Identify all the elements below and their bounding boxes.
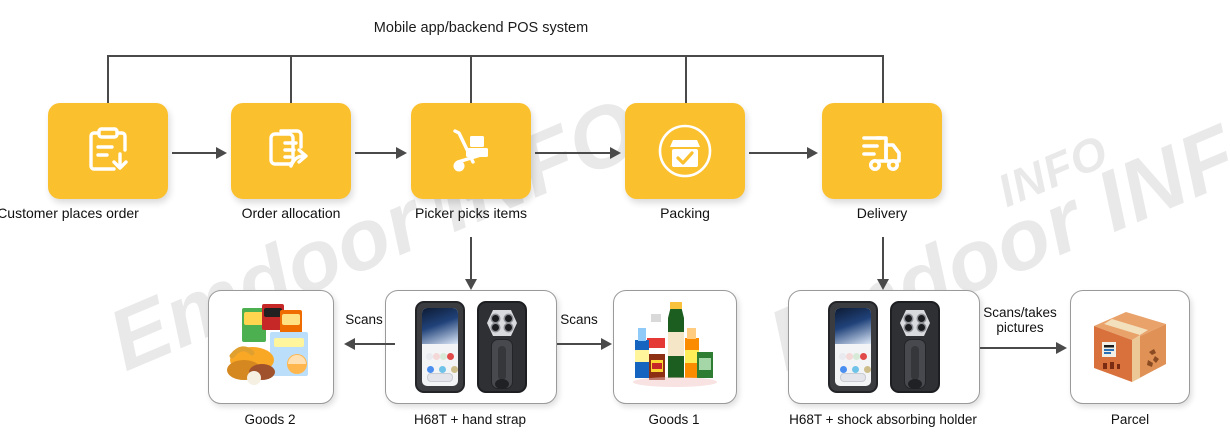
edge-label-scans-goods-1: Scans xyxy=(539,312,619,327)
step-tile-delivery[interactable] xyxy=(822,103,942,199)
node-card-parcel[interactable] xyxy=(1070,290,1190,404)
snack-packages-photo xyxy=(218,298,324,397)
hand-truck-icon xyxy=(442,122,500,180)
node-label-h68t-hand-strap: H68T + hand strap xyxy=(375,412,565,427)
step-label-packing: Packing xyxy=(585,205,785,221)
bus-drop-4 xyxy=(685,55,687,104)
rugged-phone-shock-holder-photo xyxy=(828,301,940,393)
beverage-bottles-photo xyxy=(623,298,727,397)
node-label-goods-2: Goods 2 xyxy=(190,412,350,427)
node-label-parcel: Parcel xyxy=(1060,412,1200,427)
step-tile-customer-places-order[interactable] xyxy=(48,103,168,199)
rugged-phone-hand-strap-photo xyxy=(415,301,527,393)
clipboard-download-icon xyxy=(80,123,136,179)
step-tile-picker-picks-items[interactable] xyxy=(411,103,531,199)
node-card-goods-2[interactable] xyxy=(208,290,334,404)
cardboard-parcel-photo xyxy=(1082,300,1178,395)
bus-drop-3 xyxy=(470,55,472,104)
watermark-info-right: INFO xyxy=(990,123,1116,217)
step-label-delivery: Delivery xyxy=(782,205,982,221)
bus-title: Mobile app/backend POS system xyxy=(0,20,1230,36)
node-card-h68t-shock-holder[interactable] xyxy=(788,290,980,404)
bus-drop-1 xyxy=(107,55,109,104)
step-label-customer-places-order: Customer places order xyxy=(0,205,168,221)
node-card-h68t-hand-strap[interactable] xyxy=(385,290,557,404)
bus-drop-5 xyxy=(882,55,884,104)
edge-label-scans-goods-2: Scans xyxy=(324,312,404,327)
step-tile-order-allocation[interactable] xyxy=(231,103,351,199)
node-label-h68t-shock-holder: H68T + shock absorbing holder xyxy=(768,412,998,427)
bus-title-text: Mobile app/backend POS system xyxy=(374,20,588,36)
bus-drop-2 xyxy=(290,55,292,104)
step-label-picker-picks-items: Picker picks items xyxy=(371,205,571,221)
step-label-order-allocation: Order allocation xyxy=(191,205,391,221)
bus-horizontal-line xyxy=(107,55,883,57)
edge-label-scans-takes-pictures: Scans/takes pictures xyxy=(972,305,1068,335)
workflow-diagram: Emdoor INFO Emdoor INFO INFO INFO Mobile… xyxy=(0,0,1230,445)
step-tile-packing[interactable] xyxy=(625,103,745,199)
node-card-goods-1[interactable] xyxy=(613,290,737,404)
box-check-circle-icon xyxy=(654,120,716,182)
documents-forward-icon xyxy=(263,123,319,179)
node-label-goods-1: Goods 1 xyxy=(594,412,754,427)
delivery-truck-icon xyxy=(853,122,911,180)
